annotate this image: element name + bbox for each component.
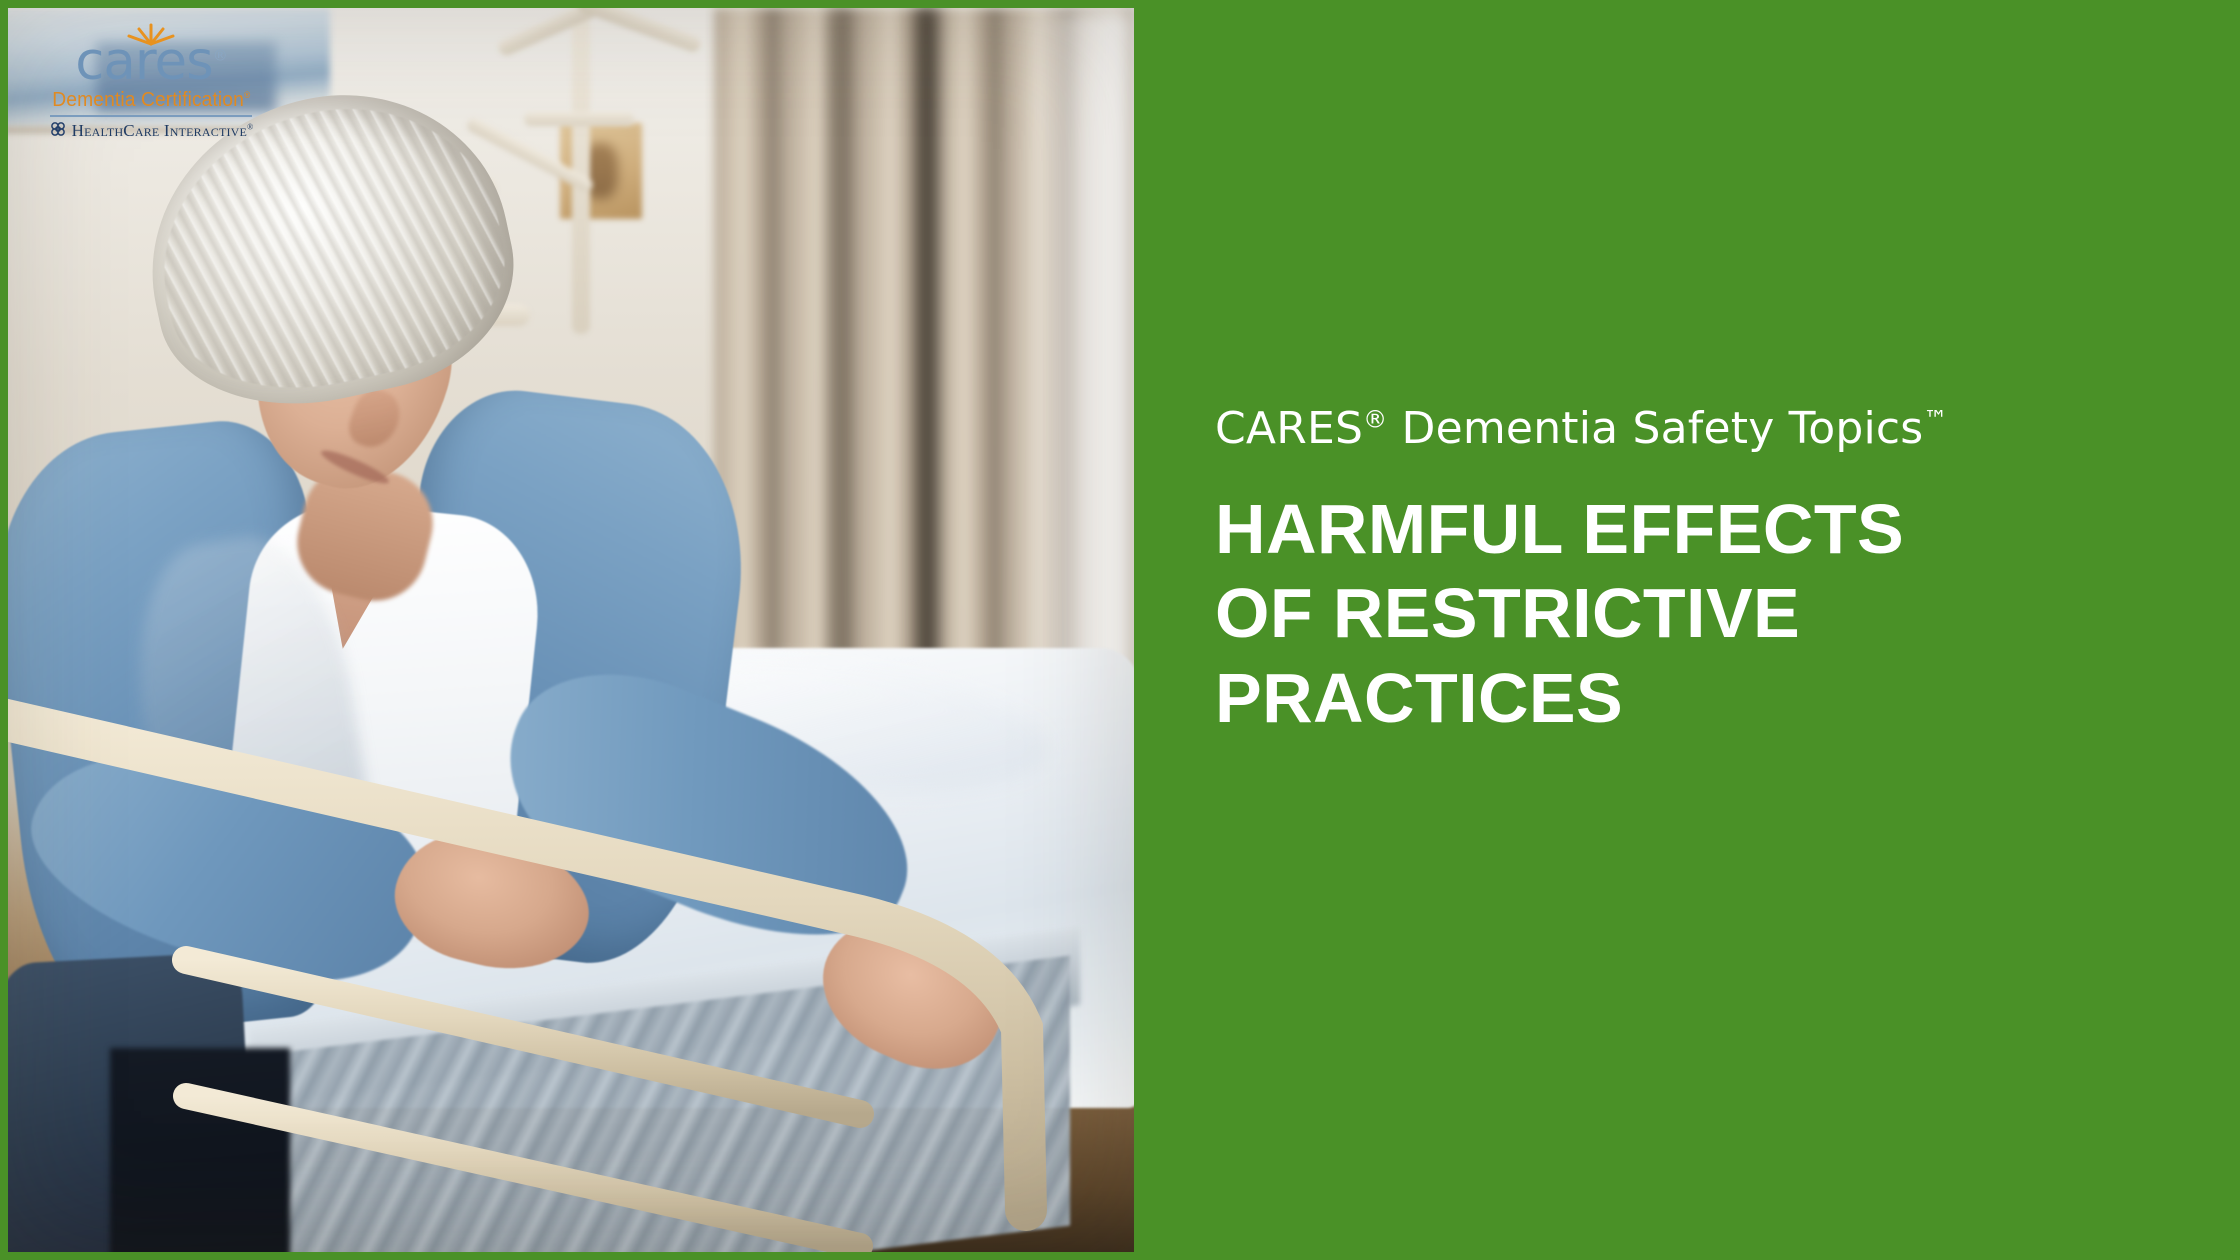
cares-tagline-text: Dementia Certification (52, 88, 244, 111)
program-trademark-mark: ™ (1923, 405, 1947, 433)
program-name-middle: Dementia Safety Topics (1387, 403, 1923, 454)
page-title-line-3: PRACTICES (1215, 656, 2155, 741)
page-title-line-2: OF RESTRICTIVE (1215, 571, 2155, 656)
hci-company-name: HealthCare Interactive® (72, 121, 254, 141)
hci-lockup: HealthCare Interactive® (46, 120, 256, 143)
program-name: CARES® Dementia Safety Topics™ (1215, 404, 2155, 455)
bed-side-rail (0, 698, 1134, 1252)
program-registered-mark: ® (1363, 405, 1387, 433)
program-name-prefix: CARES (1215, 403, 1363, 454)
logo-divider (50, 115, 252, 117)
page-title-line-1: HARMFUL EFFECTS (1215, 487, 2155, 572)
title-text-block: CARES® Dementia Safety Topics™ HARMFUL E… (1215, 404, 2155, 741)
hci-registered-mark: ® (247, 123, 253, 132)
cares-tagline: Dementia Certification® (52, 88, 249, 112)
cares-wordmark: cares® (46, 38, 256, 87)
cares-registered-mark: ® (213, 46, 227, 64)
cares-logo: cares® Dementia Certification® (46, 22, 256, 143)
page-title: HARMFUL EFFECTS OF RESTRICTIVE PRACTICES (1215, 487, 2155, 741)
hero-photo: cares® Dementia Certification® (0, 8, 1134, 1252)
cares-tagline-registered-mark: ® (244, 90, 250, 100)
hci-company-name-text: HealthCare Interactive (72, 121, 247, 140)
title-slide: cares® Dementia Certification® (0, 0, 2240, 1260)
cares-wordmark-text: cares (75, 31, 212, 92)
hci-knot-icon (49, 120, 67, 143)
